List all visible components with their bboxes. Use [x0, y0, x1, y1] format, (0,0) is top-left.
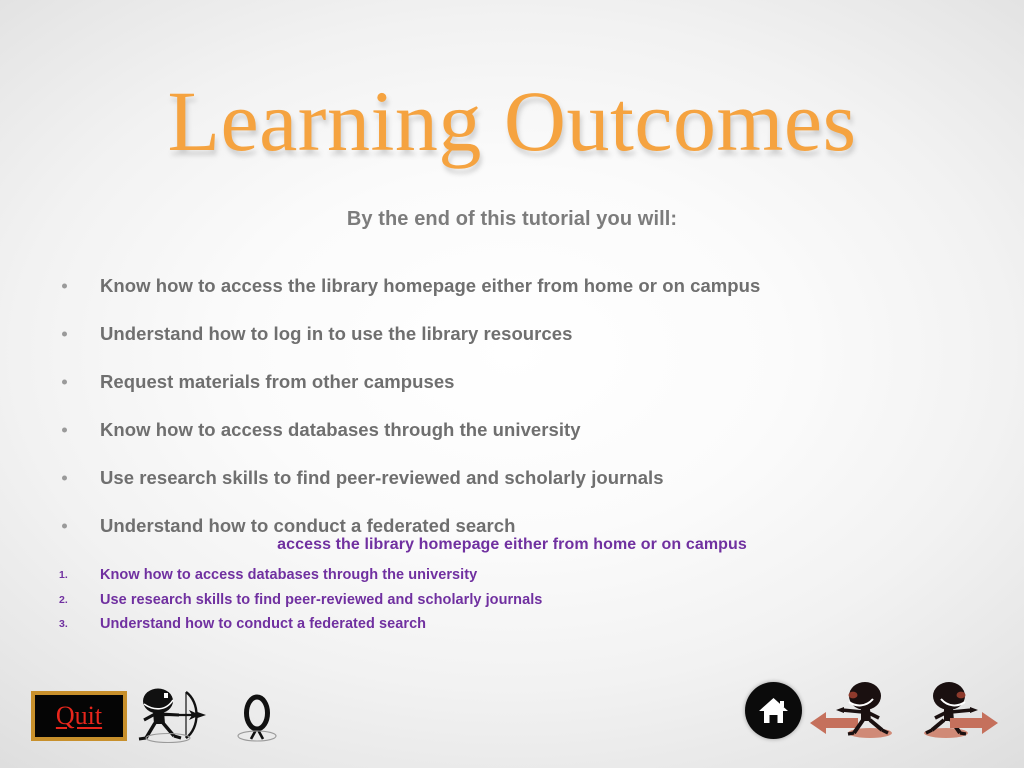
list-item: Use research skills to find peer-reviewe… — [0, 454, 1024, 502]
list-item-label: Understand how to conduct a federated se… — [100, 515, 515, 537]
forward-arrow-icon[interactable] — [948, 708, 1000, 738]
home-button[interactable] — [745, 682, 802, 739]
list-item-number: 1. — [59, 569, 68, 581]
list-item: 3. Understand how to conduct a federated… — [0, 612, 1024, 637]
purple-numbered-list: 1. Know how to access databases through … — [0, 563, 1024, 637]
list-item-label: Know how to access databases through the… — [100, 567, 477, 583]
bullet-dot-icon — [62, 284, 67, 289]
bullet-dot-icon — [62, 428, 67, 433]
list-item: Know how to access the library homepage … — [0, 262, 1024, 310]
home-icon — [758, 696, 789, 725]
target-ring-icon — [232, 694, 284, 744]
list-item: 2. Use research skills to find peer-revi… — [0, 588, 1024, 613]
list-item-label: Know how to access the library homepage … — [100, 275, 760, 297]
page-title: Learning Outcomes — [0, 78, 1024, 164]
list-item: Request materials from other campuses — [0, 358, 1024, 406]
quit-button[interactable]: Quit — [31, 691, 127, 741]
list-item-label: Know how to access databases through the… — [100, 419, 581, 441]
bullet-dot-icon — [62, 332, 67, 337]
list-item: Understand how to log in to use the libr… — [0, 310, 1024, 358]
list-item: 1. Know how to access databases through … — [0, 563, 1024, 588]
list-item-number: 2. — [59, 594, 68, 606]
slide-canvas: Learning Outcomes By the end of this tut… — [0, 0, 1024, 768]
list-item-label: Request materials from other campuses — [100, 371, 455, 393]
slide-subtitle: By the end of this tutorial you will: — [0, 208, 1024, 231]
list-item-label: Use research skills to find peer-reviewe… — [100, 592, 542, 608]
archer-figure-icon — [134, 686, 218, 744]
list-item-label: Understand how to conduct a federated se… — [100, 616, 426, 632]
list-item-label: Use research skills to find peer-reviewe… — [100, 467, 664, 489]
purple-heading: access the library homepage either from … — [0, 536, 1024, 554]
list-item-number: 3. — [59, 618, 68, 630]
learning-outcomes-bullet-list: Know how to access the library homepage … — [0, 262, 1024, 550]
bullet-dot-icon — [62, 476, 67, 481]
bullet-dot-icon — [62, 380, 67, 385]
bullet-dot-icon — [62, 524, 67, 529]
list-item: Know how to access databases through the… — [0, 406, 1024, 454]
running-figure-left-icon[interactable] — [832, 680, 898, 742]
quit-button-label: Quit — [56, 703, 102, 729]
list-item-label: Understand how to log in to use the libr… — [100, 323, 572, 345]
